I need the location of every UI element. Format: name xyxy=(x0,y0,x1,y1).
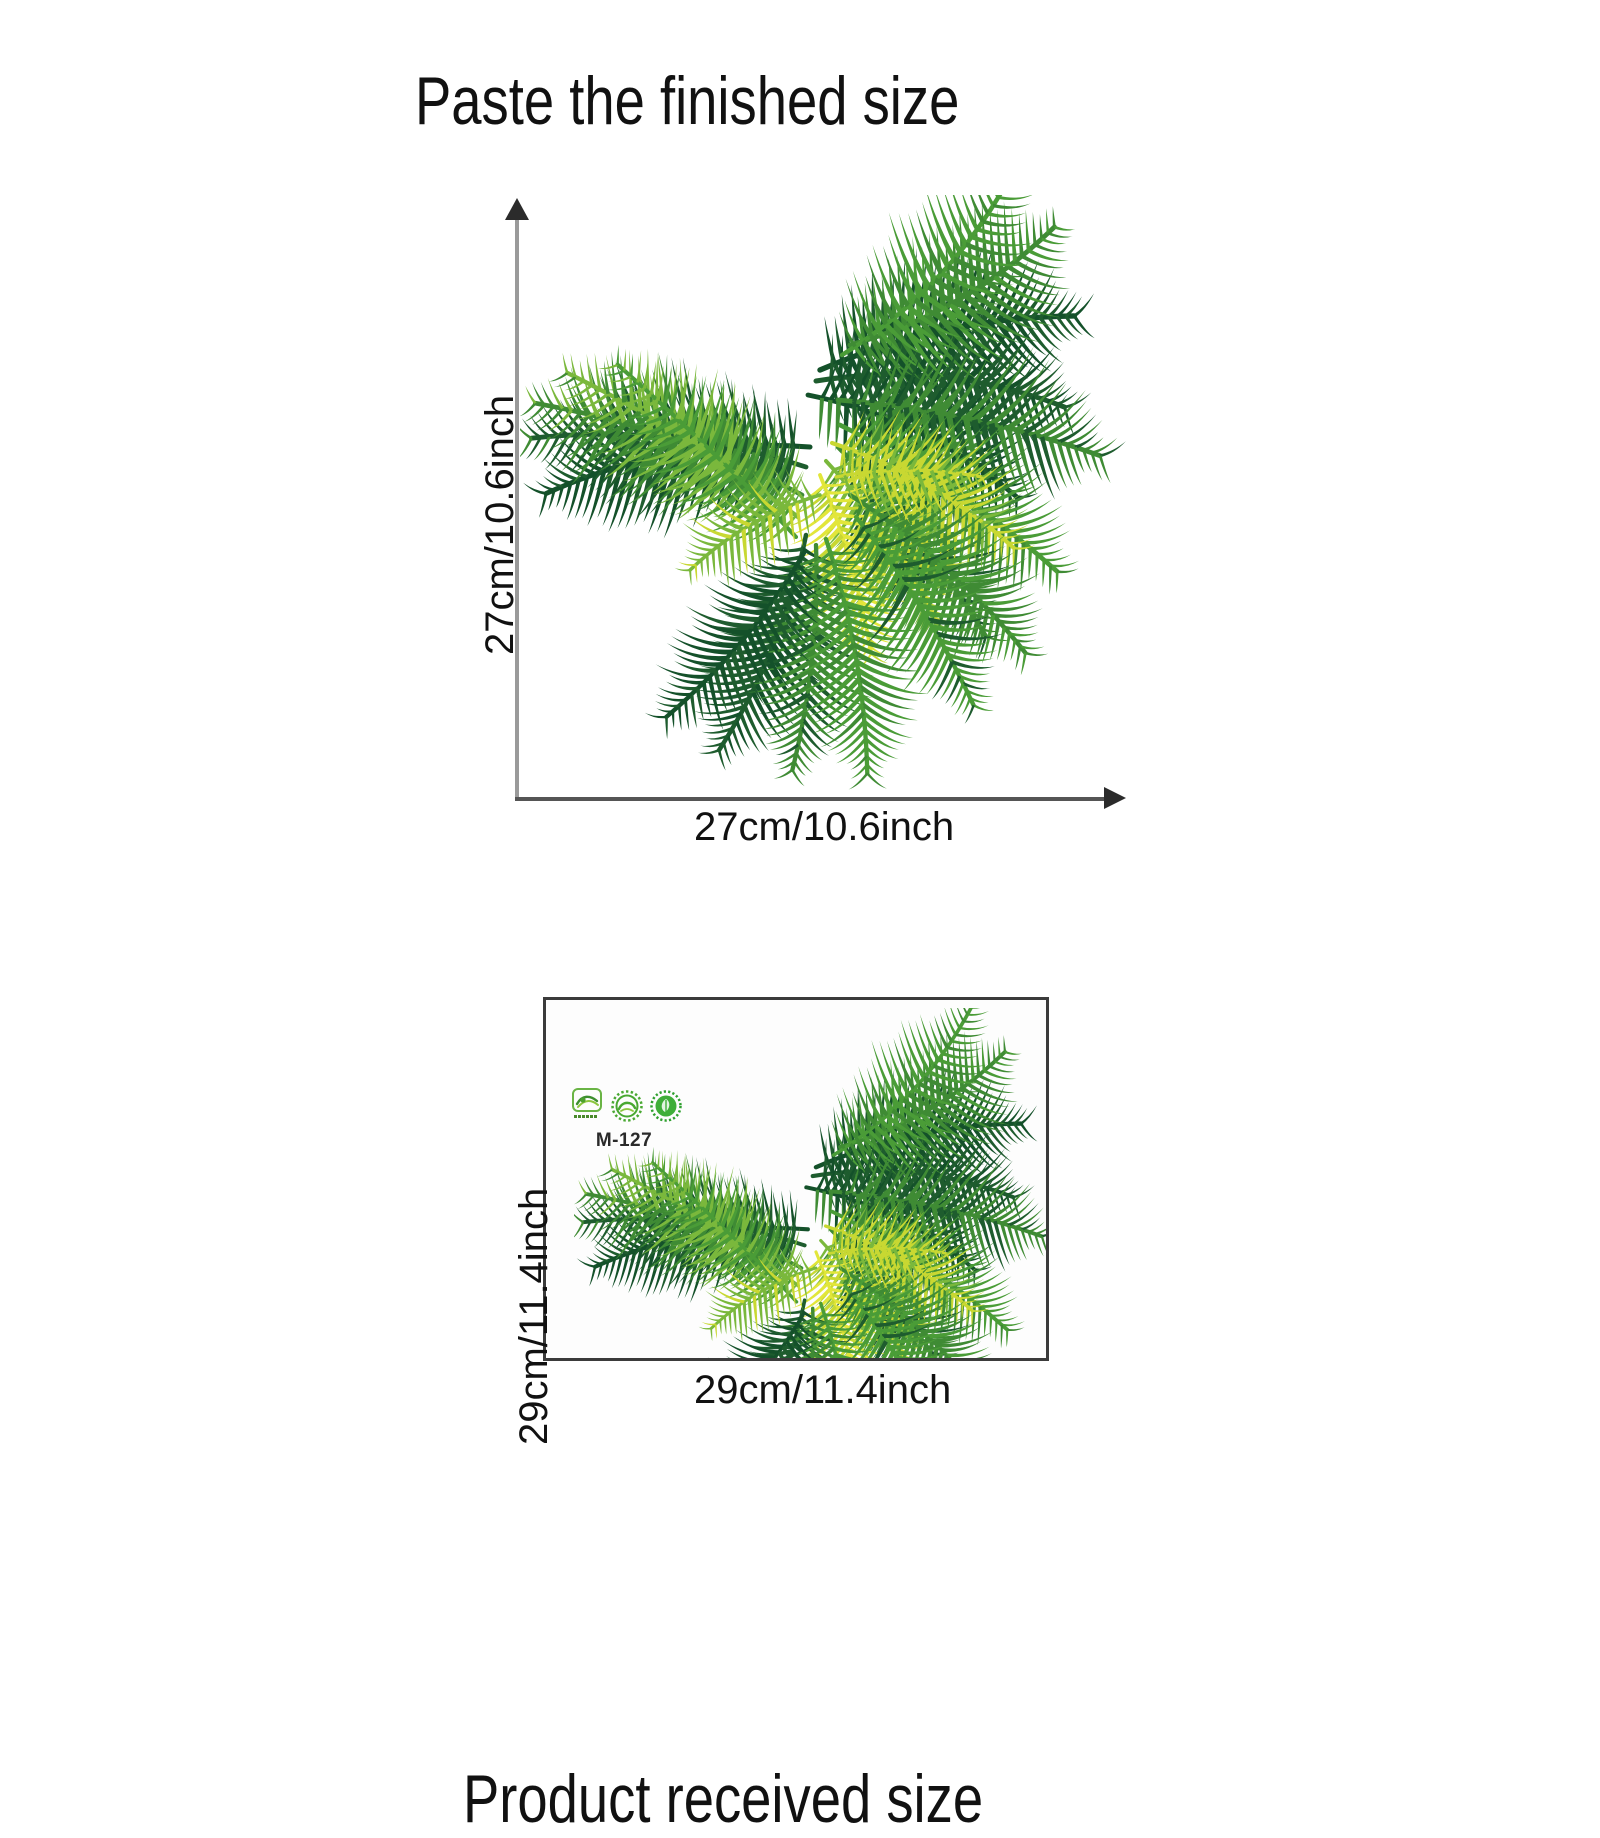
x-axis-line xyxy=(515,797,1107,801)
brand-code-label: M-127 xyxy=(572,1130,676,1152)
received-height-label: 29cm/11.4inch xyxy=(512,1188,557,1445)
brand-block: M-127 xyxy=(572,1088,712,1152)
palm-leaf-illustration xyxy=(520,195,1140,795)
received-width-label: 29cm/11.4inch xyxy=(694,1368,951,1413)
finished-width-label: 27cm/10.6inch xyxy=(694,805,954,850)
received-size-title: Product received size xyxy=(463,1760,983,1838)
palm-leaf-illustration xyxy=(574,1008,1046,1358)
finished-size-section: Paste the finished size 27cm/10.6inch 27… xyxy=(0,0,1600,870)
product-sheet-inner: M-127 xyxy=(546,1000,1046,1358)
eco-seal-logo-icon xyxy=(611,1090,643,1122)
product-size-infographic: Paste the finished size 27cm/10.6inch 27… xyxy=(0,0,1600,1600)
logo-row xyxy=(572,1088,712,1122)
product-sheet: M-127 xyxy=(543,997,1049,1361)
finished-size-title: Paste the finished size xyxy=(415,62,959,140)
vanaha-wordmark-logo-icon xyxy=(572,1088,604,1122)
green-leaf-seal-logo-icon xyxy=(650,1090,682,1122)
received-size-section: Product received size xyxy=(0,870,1600,1600)
finished-height-label: 27cm/10.6inch xyxy=(478,395,523,655)
